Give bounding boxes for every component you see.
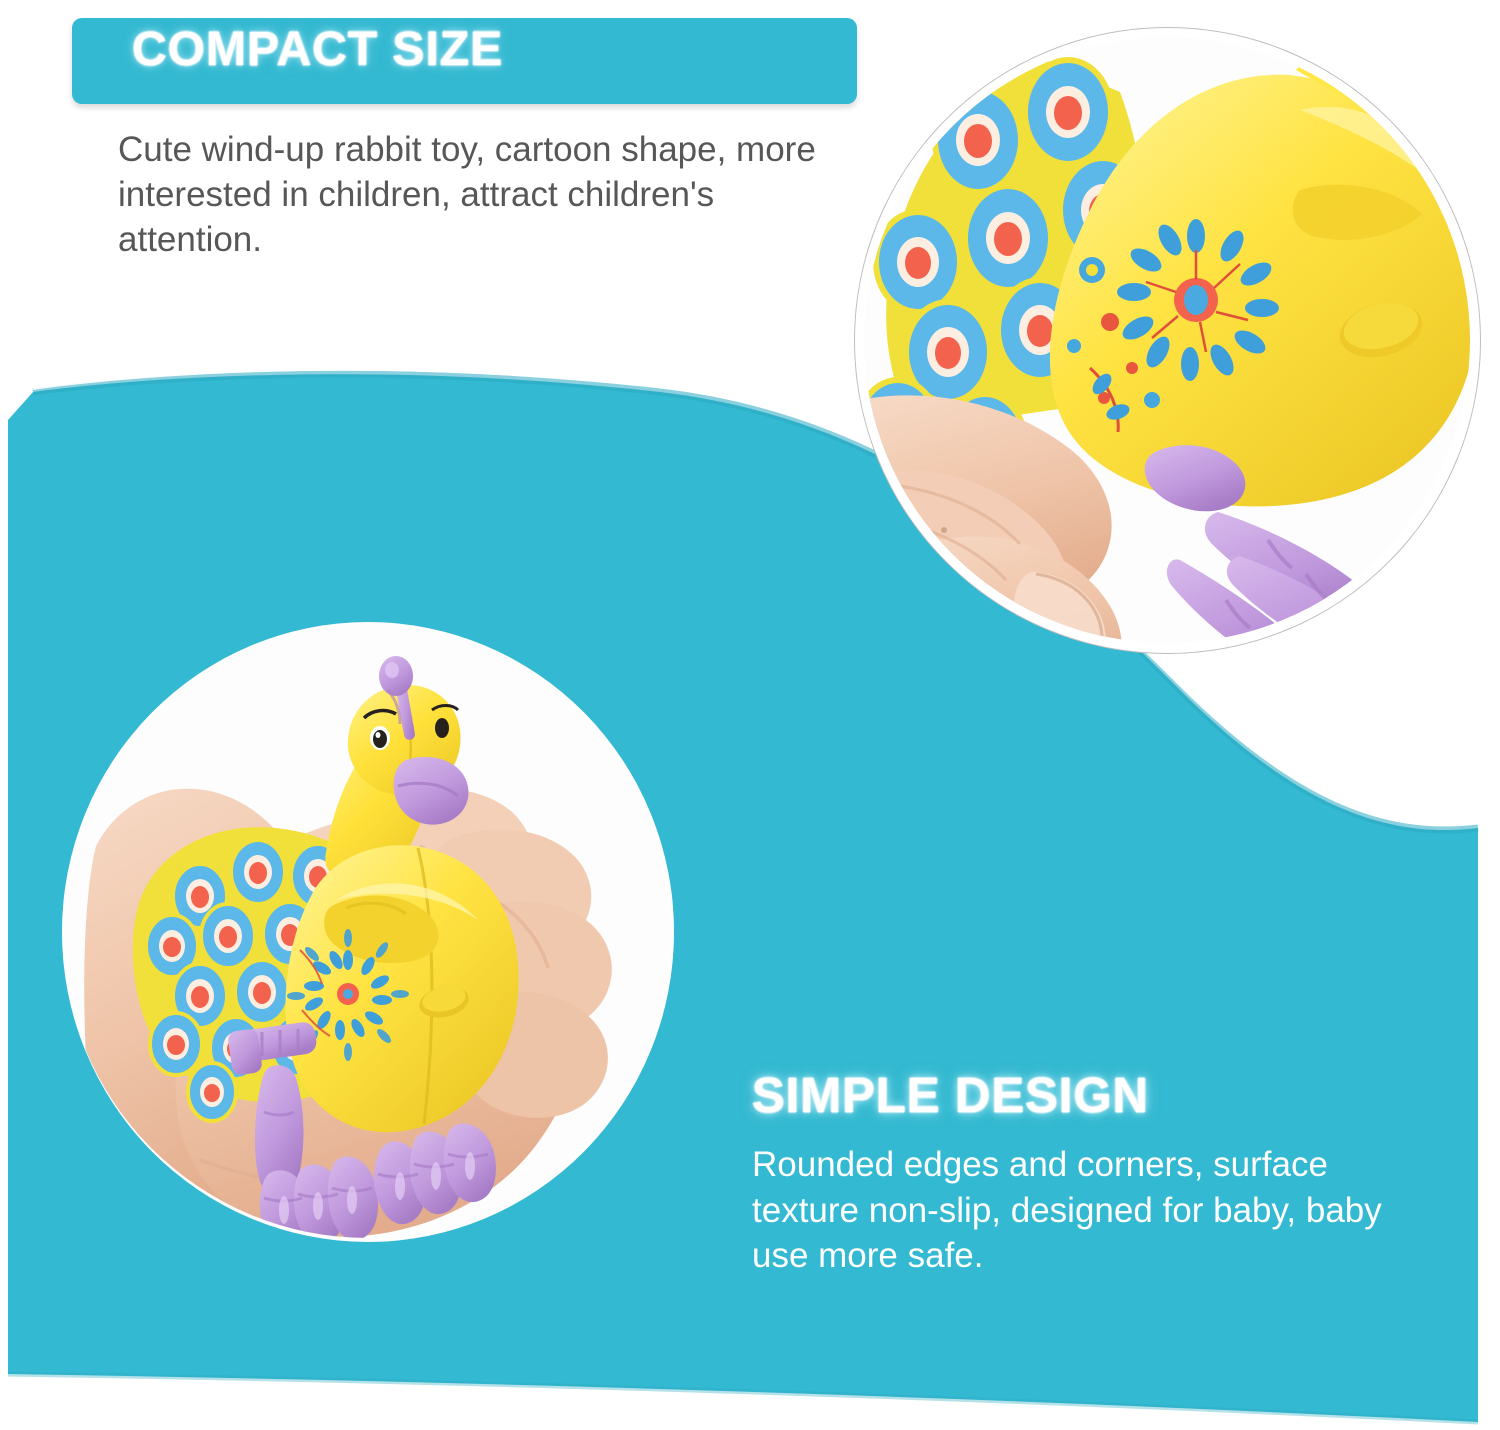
product-infographic-page: COMPACT SIZE Cute wind-up rabbit toy, ca…: [0, 0, 1500, 1430]
photo-top-closeup: [855, 28, 1480, 653]
simple-design-title: SIMPLE DESIGN: [752, 1068, 1149, 1124]
photo-bottom-illustration: [62, 622, 674, 1242]
compact-size-title: COMPACT SIZE: [132, 22, 503, 77]
photo-top-closeup-illustration: [864, 37, 1471, 644]
simple-design-description: Rounded edges and corners, surface textu…: [752, 1142, 1422, 1279]
compact-size-description: Cute wind-up rabbit toy, cartoon shape, …: [118, 128, 858, 262]
photo-bottom-full-toy: [62, 622, 674, 1242]
